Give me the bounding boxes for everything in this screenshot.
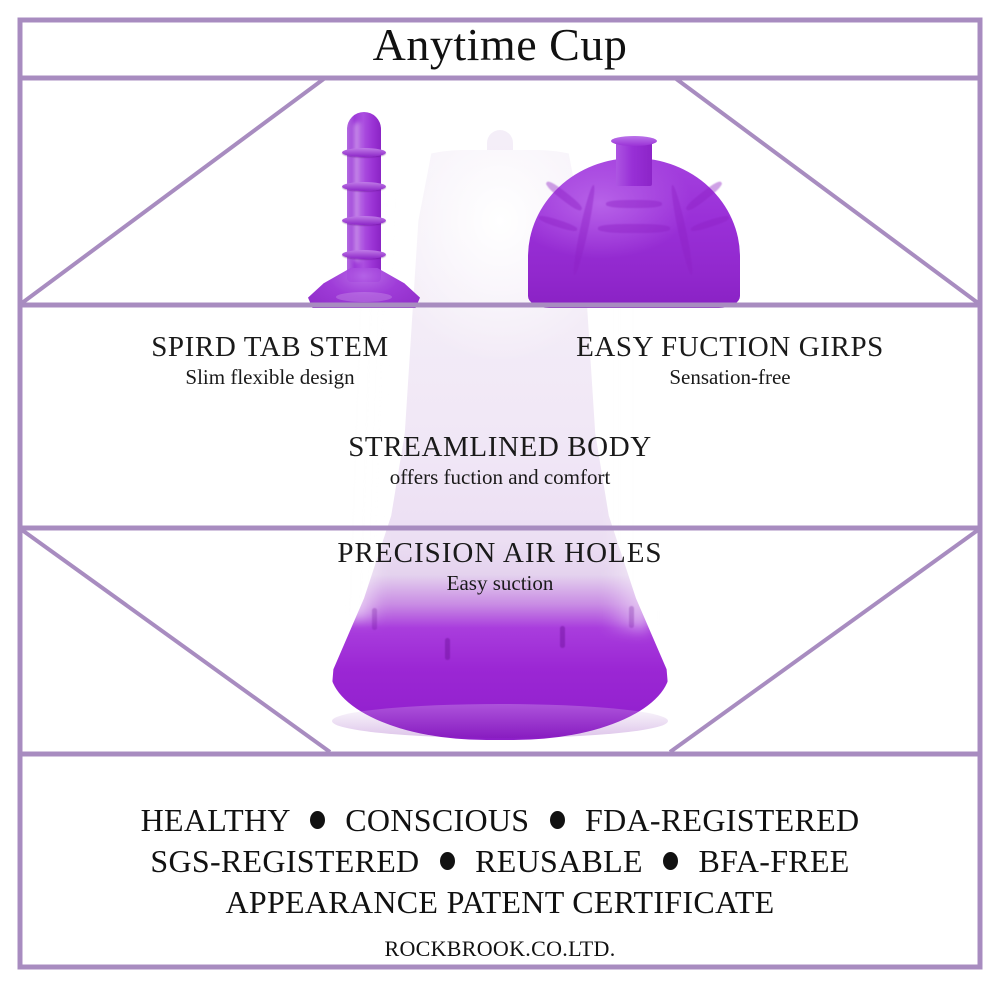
badge-row: SGS-REGISTERED REUSABLE BFA-FREE	[40, 841, 960, 882]
feature-heading: STREAMLINED BODY	[250, 432, 750, 462]
badge-label: CONSCIOUS	[345, 802, 529, 838]
feature-precision-air-holes: PRECISION AIR HOLES Easy suction	[250, 538, 750, 594]
bullet-icon	[550, 811, 565, 829]
bullet-icon	[663, 852, 678, 870]
feature-subtext: offers fuction and comfort	[250, 466, 750, 488]
patent-certificate-label: APPEARANCE PATENT CERTIFICATE	[40, 882, 960, 923]
badge-label: FDA-REGISTERED	[585, 802, 859, 838]
feature-heading: EASY FUCTION GIRPS	[530, 332, 930, 362]
feature-streamlined-body: STREAMLINED BODY offers fuction and comf…	[250, 432, 750, 488]
feature-easy-function-grips: EASY FUCTION GIRPS Sensation-free	[530, 332, 930, 388]
text-layer: Anytime Cup SPIRD TAB STEM Slim flexible…	[0, 0, 1000, 1000]
page-title: Anytime Cup	[0, 18, 1000, 71]
feature-subtext: Easy suction	[250, 572, 750, 594]
feature-subtext: Slim flexible design	[75, 366, 465, 388]
product-infographic: Anytime Cup SPIRD TAB STEM Slim flexible…	[0, 0, 1000, 1000]
badge-row: HEALTHY CONSCIOUS FDA-REGISTERED	[40, 800, 960, 841]
company-name: ROCKBROOK.CO.LTD.	[0, 936, 1000, 962]
badge-label: HEALTHY	[141, 802, 290, 838]
badge-label: REUSABLE	[475, 843, 643, 879]
feature-heading: SPIRD TAB STEM	[75, 332, 465, 362]
bullet-icon	[440, 852, 455, 870]
certification-badges: HEALTHY CONSCIOUS FDA-REGISTERED SGS-REG…	[40, 800, 960, 923]
feature-spiral-tab-stem: SPIRD TAB STEM Slim flexible design	[75, 332, 465, 388]
bullet-icon	[310, 811, 325, 829]
feature-heading: PRECISION AIR HOLES	[250, 538, 750, 568]
badge-label: SGS-REGISTERED	[150, 843, 419, 879]
feature-subtext: Sensation-free	[530, 366, 930, 388]
badge-label: BFA-FREE	[698, 843, 849, 879]
